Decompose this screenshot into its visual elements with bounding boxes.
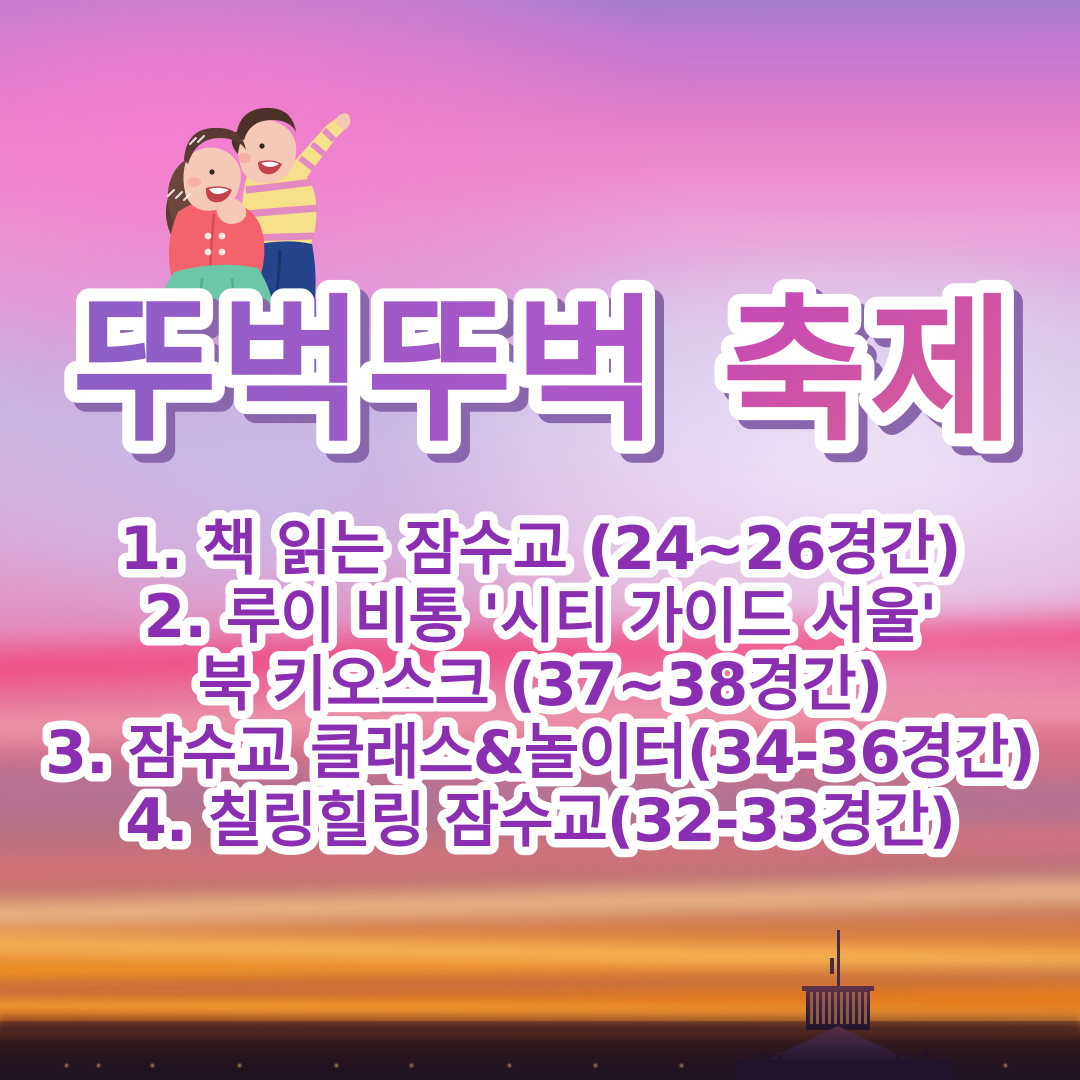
program-line-2-text: 2. 루이 비통 '시티 가이드 서울' [144, 582, 937, 652]
program-list: 1. 책 읽는 잠수교 (24~26경간) 2. 루이 비통 '시티 가이드 서… [0, 518, 1080, 858]
program-line-1-text: 1. 책 읽는 잠수교 (24~26경간) [120, 514, 961, 584]
program-line-1: 1. 책 읽는 잠수교 (24~26경간) [0, 513, 1080, 591]
program-line-4-text: 3. 잠수교 클래스&놀이터(34-36경간) [45, 718, 1035, 788]
program-line-5: 4. 칠링힐링 잠수교(32-33경간) [0, 785, 1080, 863]
poster-title: 뚜벅뚜벅 축제 뚜벅뚜벅 축제 [0, 276, 1080, 476]
program-line-3: 북 키오스크 (37~38경간) [0, 649, 1080, 727]
program-line-2: 2. 루이 비통 '시티 가이드 서울' [0, 581, 1080, 659]
tower-silhouette-icon [720, 930, 970, 1080]
festival-poster: 뚜벅뚜벅 축제 뚜벅뚜벅 축제 1. 책 읽는 잠수교 (24~26경간) 2.… [0, 0, 1080, 1080]
title-text-accent: 축제 [722, 280, 1017, 464]
title-text-primary: 뚜벅뚜벅 [72, 280, 661, 464]
program-line-5-text: 4. 칠링힐링 잠수교(32-33경간) [125, 786, 955, 856]
program-line-4: 3. 잠수교 클래스&놀이터(34-36경간) [0, 717, 1080, 795]
program-line-3-text: 북 키오스크 (37~38경간) [198, 650, 882, 720]
title-svg: 뚜벅뚜벅 축제 뚜벅뚜벅 축제 [20, 276, 1060, 476]
